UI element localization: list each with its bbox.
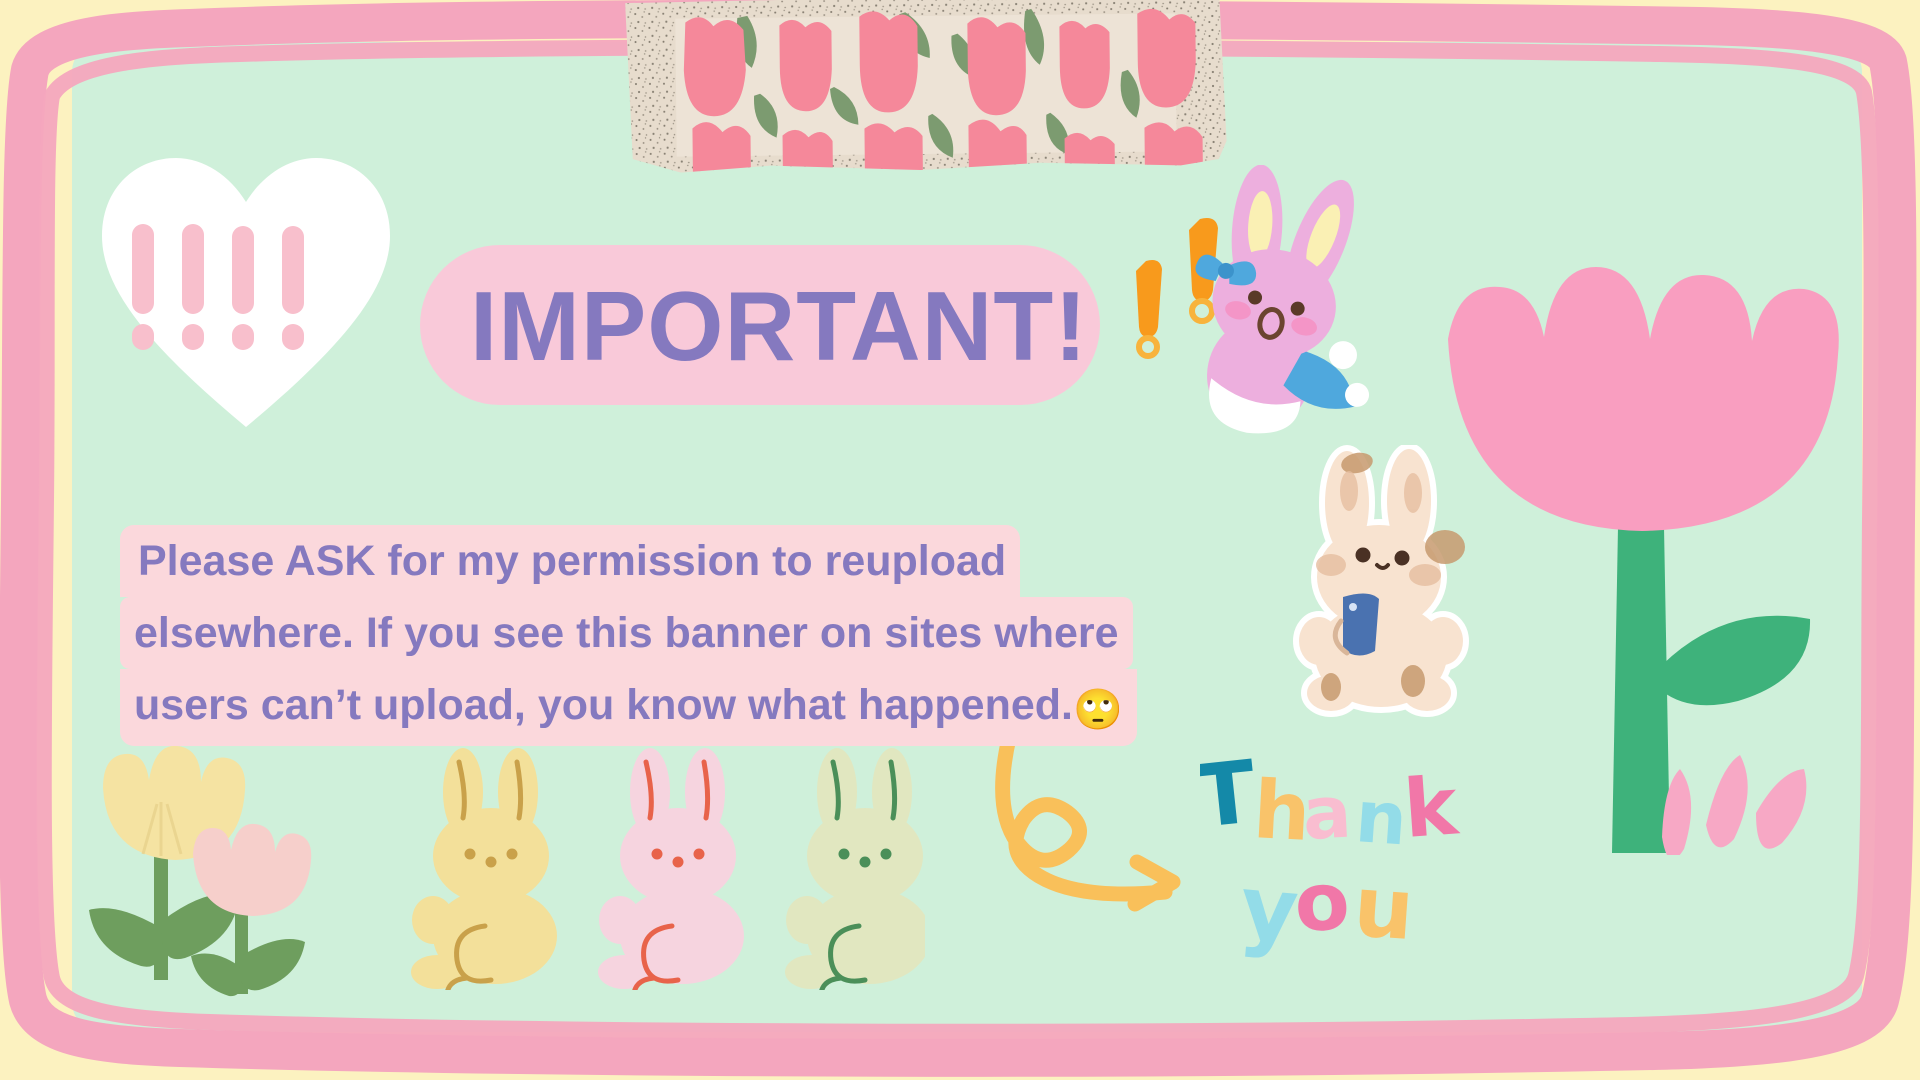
cookie-bunny-green bbox=[785, 748, 925, 990]
page-title: IMPORTANT! bbox=[470, 262, 1088, 390]
white-heart-with-exclamations bbox=[96, 152, 396, 432]
thank-letter-k: k bbox=[1401, 759, 1462, 856]
message-line-2: elsewhere. If you see this banner on sit… bbox=[120, 597, 1133, 669]
you-letter-o: o bbox=[1292, 854, 1352, 950]
you-letter-u: u bbox=[1351, 857, 1418, 959]
cookie-bunny-pink bbox=[598, 748, 744, 990]
cookie-bunny-yellow bbox=[411, 748, 557, 990]
message-line-1: Please ASK for my permission to reupload bbox=[120, 525, 1020, 597]
message-line-3: users can’t upload, you know what happen… bbox=[120, 669, 1137, 746]
tulip-pair-left bbox=[85, 740, 335, 1000]
cookie-bunny-row bbox=[395, 740, 925, 990]
message-line-3-text: users can’t upload, you know what happen… bbox=[134, 681, 1073, 729]
thank-letter-a: a bbox=[1300, 770, 1353, 856]
rolling-eyes-emoji: 🙄 bbox=[1073, 688, 1123, 732]
tulip-petal-accents bbox=[1662, 755, 1806, 855]
thank-you-lettering: T h a n k y o u bbox=[1200, 745, 1520, 960]
banner-stage: IMPORTANT! bbox=[0, 0, 1920, 1080]
excited-purple-bunny-sticker bbox=[1155, 165, 1405, 455]
phone-icon bbox=[1343, 593, 1379, 655]
thank-letter-n: n bbox=[1353, 774, 1410, 861]
message-block: Please ASK for my permission to reupload… bbox=[120, 525, 1120, 746]
tulip-washi-tape bbox=[619, 0, 1233, 179]
